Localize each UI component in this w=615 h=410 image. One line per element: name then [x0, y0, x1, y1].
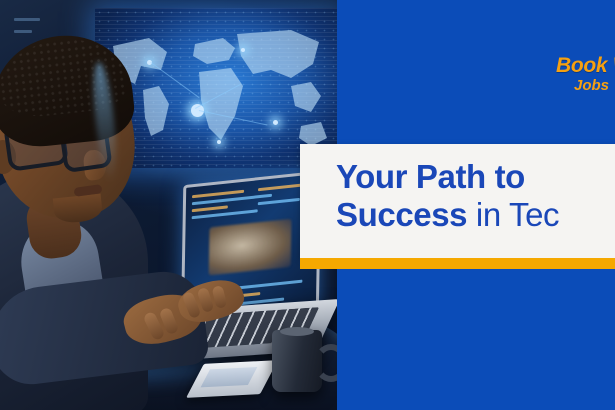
- headline-card: Your Path to Success in Tec: [300, 144, 615, 258]
- map-glow-point: [217, 140, 221, 144]
- map-glow-point: [241, 48, 245, 52]
- headline-text: Your Path to Success in Tec: [336, 158, 559, 233]
- hero-photo: [0, 0, 340, 410]
- headline-emphasis: Success: [336, 196, 467, 233]
- headline-rest: in Tec: [467, 196, 559, 233]
- promotional-banner: Book W Jobs Your Path to Success in Tec: [0, 0, 615, 410]
- map-glow-point: [273, 120, 278, 125]
- logo-secondary-text: Jobs: [574, 78, 615, 93]
- headline-line-2: Success in Tec: [336, 196, 559, 234]
- logo-wordmark: Book W Jobs: [556, 55, 615, 93]
- headline-line-1: Your Path to: [336, 158, 559, 196]
- accent-bar: [300, 258, 615, 269]
- laptop-screen-image: [208, 219, 291, 275]
- logo-primary-text: Book W: [556, 55, 615, 76]
